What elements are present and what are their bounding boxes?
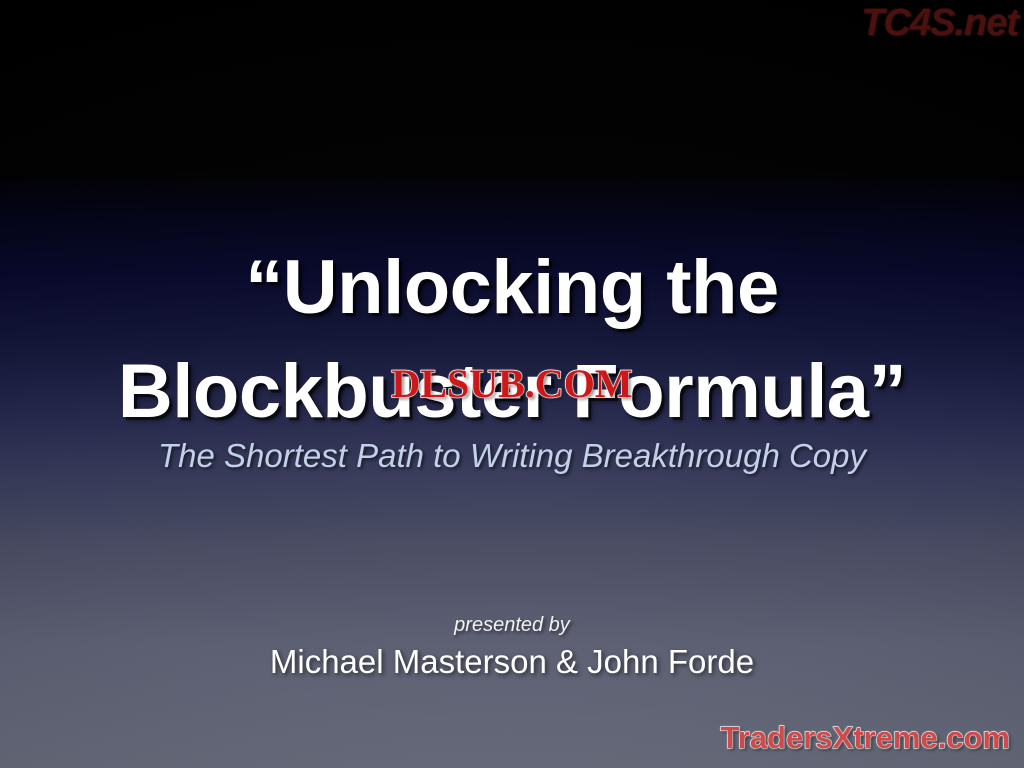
presentation-slide: TC4S.net “Unlocking the Blockbuster Form… (0, 0, 1024, 768)
slide-subtitle: The Shortest Path to Writing Breakthroug… (0, 437, 1024, 475)
presented-by-label: presented by (0, 612, 1024, 638)
watermark-top-right: TC4S.net (861, 2, 1018, 45)
watermark-center: DLSUB.COM (391, 360, 632, 407)
slide-title-line-1: “Unlocking the (0, 236, 1024, 340)
presenter-block: presented by Michael Masterson & John Fo… (0, 612, 1024, 684)
presenter-names: Michael Masterson & John Forde (0, 640, 1024, 684)
slide-title: “Unlocking the Blockbuster Formula” (0, 236, 1024, 444)
watermark-bottom-right: TradersXtreme.com (721, 720, 1010, 756)
